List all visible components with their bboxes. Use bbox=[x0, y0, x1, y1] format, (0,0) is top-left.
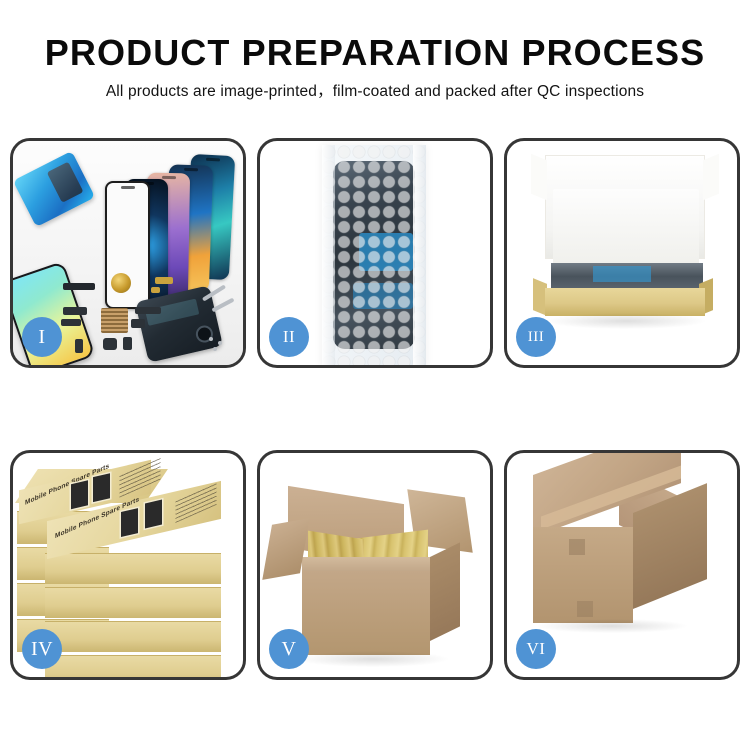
foam-insert bbox=[553, 189, 699, 265]
vibration-motor-icon bbox=[103, 338, 117, 350]
camera-module-icon bbox=[131, 319, 145, 328]
step-badge-3: III bbox=[516, 317, 556, 357]
wrapped-product-in-box bbox=[551, 263, 703, 291]
step-badge-5: V bbox=[269, 629, 309, 669]
flex-cable-icon bbox=[135, 307, 161, 314]
step-6-illustration: VI bbox=[507, 453, 737, 677]
screw-icon bbox=[218, 341, 222, 345]
flex-cable-icon bbox=[155, 277, 173, 284]
bubble-wrap-pouch bbox=[322, 145, 426, 365]
product-thumbnail bbox=[145, 500, 162, 529]
drop-shadow bbox=[547, 313, 705, 329]
process-step-grid: I II bbox=[10, 138, 740, 680]
pouch-seal-right bbox=[413, 145, 426, 365]
product-preparation-process-page: PRODUCT PREPARATION PROCESS All products… bbox=[0, 0, 750, 750]
step-badge-1: I bbox=[22, 317, 62, 357]
earpiece-mesh-icon bbox=[63, 283, 95, 290]
speaker-module-icon bbox=[111, 273, 131, 293]
step-4-illustration: Mobile Phone Spare Parts Mobile Phone Sp… bbox=[13, 453, 243, 677]
spec-text-block bbox=[119, 457, 160, 498]
pouch-seal-left bbox=[322, 145, 335, 365]
step-badge-4: IV bbox=[22, 629, 62, 669]
step-badge-2: II bbox=[269, 317, 309, 357]
page-subtitle: All products are image-printed，film-coat… bbox=[0, 72, 750, 100]
carton-front-panel bbox=[302, 571, 430, 655]
step-2-illustration: II bbox=[260, 141, 490, 365]
step-5-illustration: V bbox=[260, 453, 490, 677]
product-thumbnail bbox=[71, 480, 88, 509]
flex-cable-icon bbox=[63, 307, 87, 315]
header: PRODUCT PREPARATION PROCESS All products… bbox=[0, 0, 750, 100]
box-edge bbox=[45, 553, 221, 584]
product-thumbnail bbox=[93, 473, 110, 502]
box-tray-front bbox=[545, 288, 705, 316]
screwdriver-icon bbox=[211, 298, 234, 313]
tweezers-icon bbox=[202, 284, 226, 301]
sim-tray-icon bbox=[75, 339, 83, 353]
drop-shadow bbox=[537, 619, 687, 633]
step-badge-6: VI bbox=[516, 629, 556, 669]
process-step-panel-6: VI bbox=[504, 450, 740, 680]
bubble-highlight-layer bbox=[322, 145, 426, 365]
carton-seam bbox=[577, 601, 593, 617]
flex-cable-icon bbox=[151, 287, 160, 293]
process-step-panel-4: Mobile Phone Spare Parts Mobile Phone Sp… bbox=[10, 450, 246, 680]
product-thumbnail bbox=[121, 508, 138, 537]
box-edge bbox=[45, 621, 221, 652]
screw-icon bbox=[209, 337, 213, 341]
button-part-icon bbox=[123, 337, 132, 350]
process-step-panel-1: I bbox=[10, 138, 246, 368]
carton-side-panel bbox=[430, 542, 460, 641]
drop-shadow bbox=[298, 651, 448, 667]
flex-cable-icon bbox=[61, 319, 81, 326]
screw-icon bbox=[213, 347, 217, 351]
step-1-illustration: I bbox=[13, 141, 243, 365]
spec-text-block bbox=[175, 482, 216, 523]
process-step-panel-5: V bbox=[257, 450, 493, 680]
connector-chip-icon bbox=[101, 308, 128, 333]
step-3-illustration: III bbox=[507, 141, 737, 365]
carton-seam bbox=[569, 539, 585, 555]
page-title: PRODUCT PREPARATION PROCESS bbox=[0, 0, 750, 72]
process-step-panel-2: II bbox=[257, 138, 493, 368]
box-edge bbox=[45, 587, 221, 618]
box-edge bbox=[45, 655, 221, 677]
process-step-panel-3: III bbox=[504, 138, 740, 368]
